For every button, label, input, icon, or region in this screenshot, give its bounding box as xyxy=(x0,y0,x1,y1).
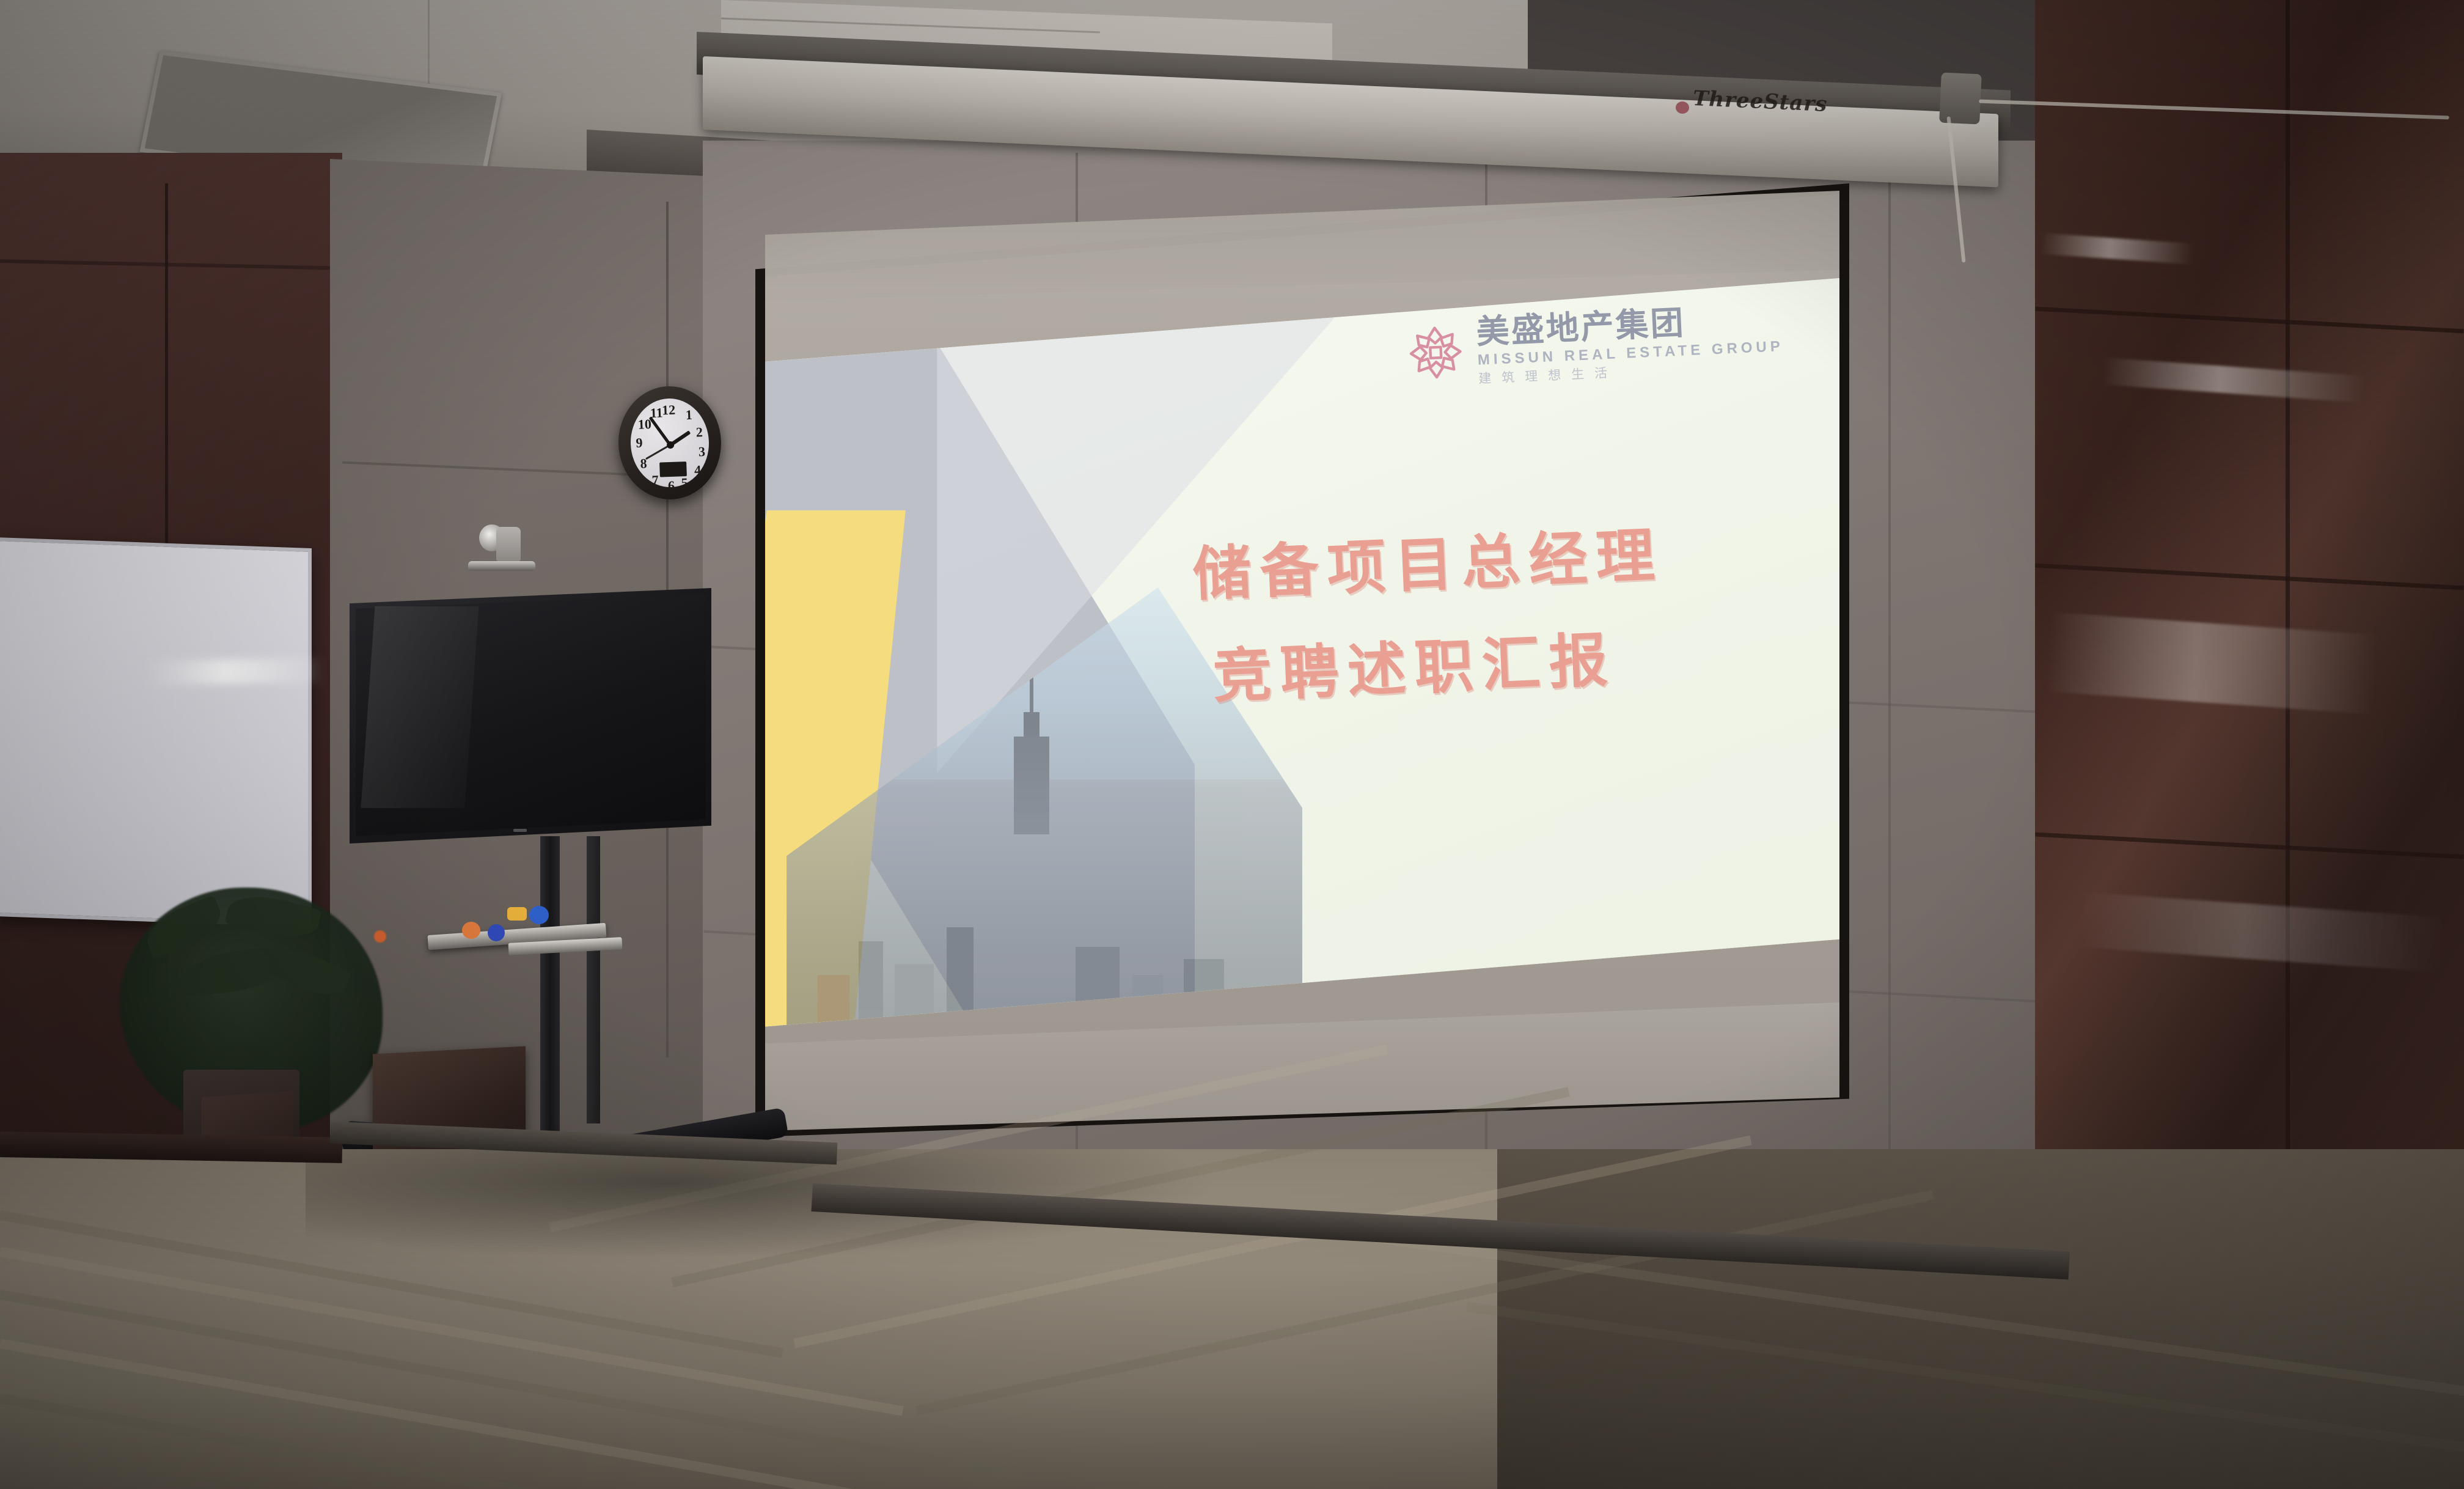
tv-screen-reflection xyxy=(361,606,479,808)
logo-text-block: 美盛地产集团 MISSUN REAL ESTATE GROUP 建筑理想生活 xyxy=(1476,302,1785,386)
slide-title-block: 储备项目总经理 竞聘述职汇报 xyxy=(1191,497,1822,728)
tv-power-led xyxy=(513,829,527,832)
slide-background: 美盛地产集团 MISSUN REAL ESTATE GROUP 建筑理想生活 储… xyxy=(765,278,1839,1051)
cart-vertical-post xyxy=(587,836,600,1123)
clock-numeral: 2 xyxy=(692,424,707,441)
clock-center-pin xyxy=(667,441,674,449)
marker-yellow[interactable] xyxy=(507,907,527,921)
clock-numeral: 3 xyxy=(694,444,710,460)
clock-numeral: 1 xyxy=(681,406,697,423)
cart-vertical-post xyxy=(540,836,560,1142)
marker-blue[interactable] xyxy=(488,924,505,941)
marker-blue-2[interactable] xyxy=(529,906,549,924)
whiteboard-glare xyxy=(145,658,323,685)
webcam-body xyxy=(496,527,521,561)
clock-numeral: 9 xyxy=(632,435,647,451)
clock-numeral: 6 xyxy=(664,478,679,494)
meeting-room-photo: ThreeStars xyxy=(0,0,2464,1489)
wall-panel-seam xyxy=(1888,153,1891,1192)
whiteboard[interactable] xyxy=(0,537,312,927)
company-logo: 美盛地产集团 MISSUN REAL ESTATE GROUP 建筑理想生活 xyxy=(1405,302,1785,389)
clock-numeral: 5 xyxy=(677,475,692,491)
screen-end-bracket xyxy=(1939,73,1982,125)
projected-slide[interactable]: 美盛地产集团 MISSUN REAL ESTATE GROUP 建筑理想生活 储… xyxy=(765,278,1839,1051)
webcam-mount-base xyxy=(468,561,535,571)
flower-logo-mark-icon xyxy=(1405,322,1466,383)
indicator-light-icon xyxy=(374,930,386,943)
clock-numeral: 4 xyxy=(690,462,705,479)
clock-face: 12 1 2 3 4 5 6 7 8 9 10 11 xyxy=(629,397,711,488)
photo-landmark-tower xyxy=(1024,712,1039,828)
clock-date-window xyxy=(659,461,687,477)
marker-orange[interactable] xyxy=(462,922,480,939)
